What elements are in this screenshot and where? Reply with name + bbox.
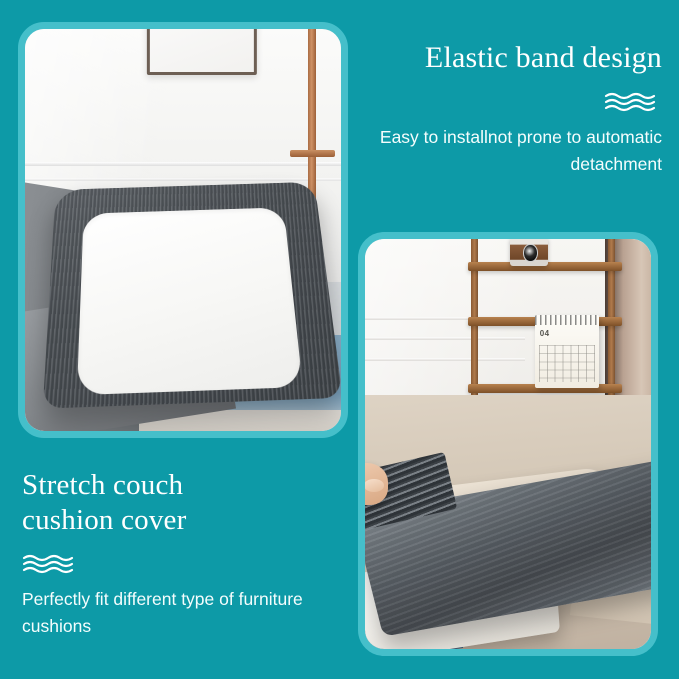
wave-divider-icon — [22, 553, 78, 574]
top-headline: Elastic band design — [370, 40, 662, 77]
hands-stretching-cover-photo: 04 — [358, 232, 658, 656]
wave-divider-icon — [604, 91, 660, 112]
top-subtext-wrap: Easy to installnot prone to automatic de… — [370, 124, 662, 178]
wall-molding-upper — [25, 162, 341, 166]
bottom-subtext-wrap: Perfectly fit different type of furnitur… — [22, 586, 322, 640]
bottom-headline: Stretch couch cushion cover — [22, 468, 322, 539]
product-infographic-poster: 04 Elastic band design — [0, 0, 679, 679]
photo-inner: 04 — [365, 239, 651, 649]
wall-molding-lower — [25, 178, 341, 181]
bottom-subtext: Perfectly fit different type of furnitur… — [22, 586, 322, 640]
white-cushion-face — [77, 207, 303, 394]
photo-inner — [25, 29, 341, 431]
gray-elastic-cushion-cover — [43, 182, 341, 409]
vintage-camera — [510, 239, 548, 266]
calendar-month-label: 04 — [540, 330, 550, 338]
framed-wall-art — [147, 29, 257, 75]
desk-calendar: 04 — [535, 315, 599, 388]
beige-sofa — [365, 395, 651, 649]
top-right-text-block: Elastic band design Easy to installnot p… — [370, 40, 662, 178]
bottom-headline-line1: Stretch couch — [22, 469, 183, 501]
calendar-spiral-binding — [535, 315, 599, 324]
cushion-with-elastic-cover-photo — [18, 22, 348, 438]
bottom-left-text-block: Stretch couch cushion cover Perfectly fi… — [22, 468, 322, 640]
wooden-rod-crossbar — [290, 150, 334, 157]
bottom-headline-line2: cushion cover — [22, 504, 186, 536]
top-subtext: Easy to installnot prone to automatic de… — [370, 124, 662, 178]
calendar-date-grid — [539, 345, 595, 383]
